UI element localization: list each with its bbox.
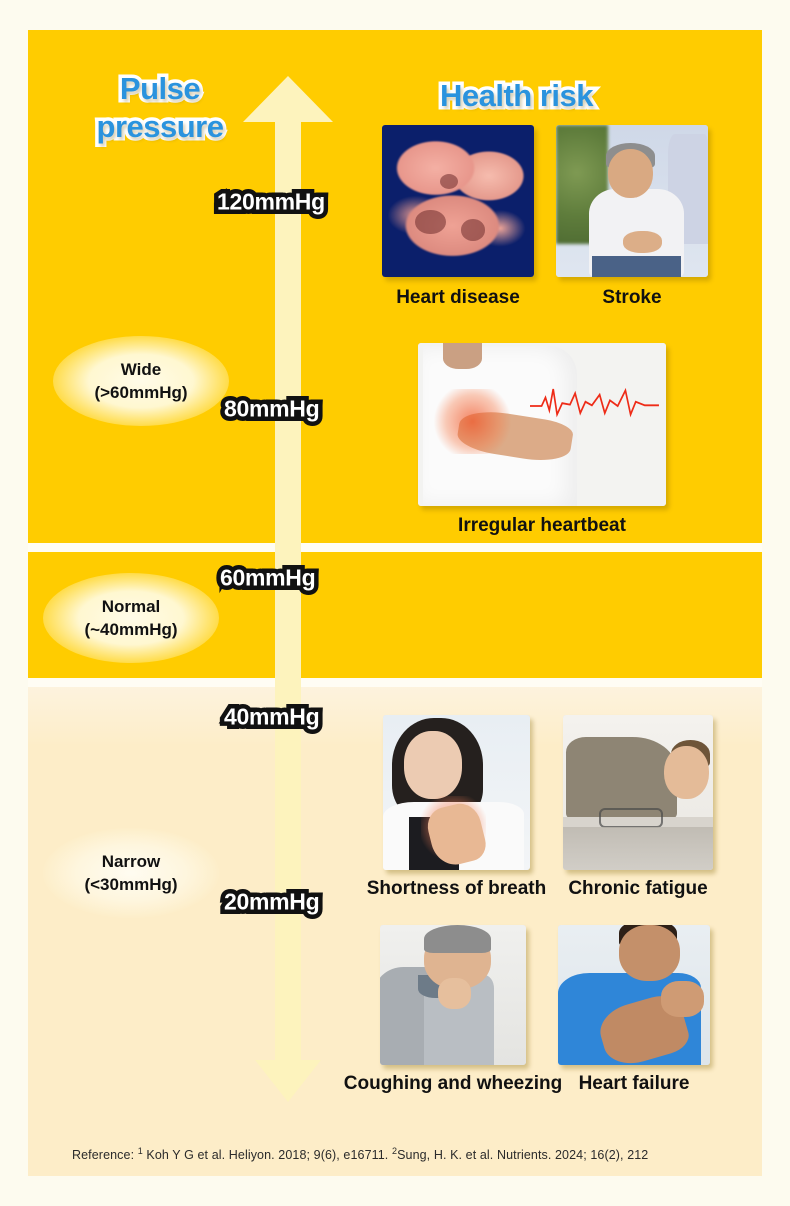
category-badge-normal: Normal (~40mmHg): [43, 573, 219, 663]
reference-note: Reference: 1 Koh Y G et al. Heliyon. 201…: [72, 1146, 732, 1162]
category-range-wide: (>60mmHg): [94, 381, 187, 404]
category-badge-narrow: Narrow (<30mmHg): [43, 828, 219, 918]
category-range-normal: (~40mmHg): [84, 618, 177, 641]
shortness-of-breath-photo: [383, 715, 530, 870]
risk-item-stroke: Stroke: [556, 125, 708, 277]
reference-citation-1: Koh Y G et al. Heliyon. 2018; 9(6), e167…: [146, 1148, 388, 1162]
risk-caption-chronic-fatigue: Chronic fatigue: [568, 878, 707, 900]
category-title-wide: Wide: [121, 358, 161, 381]
heart-anatomy-photo: [382, 125, 534, 277]
tick-label-80mmhg: 80mmHg: [224, 396, 319, 423]
irregular-heartbeat-photo: [418, 343, 666, 506]
pulse-pressure-title: Pulse pressure: [80, 70, 240, 146]
health-risk-title: Health risk: [440, 78, 593, 114]
tick-label-60mmhg: 60mmHg: [220, 565, 315, 592]
arrow-down-head-icon: [255, 1060, 321, 1102]
risk-item-heart-failure: Heart failure: [558, 925, 710, 1065]
divider-40mmhg: [28, 678, 762, 687]
risk-item-heart-disease: Heart disease: [382, 125, 534, 277]
pulse-pressure-infographic: Pulse pressure Health risk 120mmHg 80mmH…: [28, 30, 762, 1176]
risk-item-shortness-of-breath: Shortness of breath: [383, 715, 530, 870]
category-title-narrow: Narrow: [102, 850, 161, 873]
risk-caption-heart-disease: Heart disease: [396, 287, 520, 309]
risk-caption-stroke: Stroke: [602, 287, 661, 309]
category-range-narrow: (<30mmHg): [84, 873, 177, 896]
risk-item-chronic-fatigue: Chronic fatigue: [563, 715, 713, 870]
risk-item-coughing-and-wheezing: Coughing and wheezing: [380, 925, 526, 1065]
risk-caption-coughing-and-wheezing: Coughing and wheezing: [344, 1073, 562, 1095]
reference-citation-2: Sung, H. K. et al. Nutrients. 2024; 16(2…: [397, 1148, 648, 1162]
category-badge-wide: Wide (>60mmHg): [53, 336, 229, 426]
stroke-patient-photo: [556, 125, 708, 277]
divider-60mmhg: [28, 543, 762, 552]
category-title-normal: Normal: [102, 595, 161, 618]
reference-marker-1: 1: [138, 1146, 143, 1156]
risk-caption-shortness-of-breath: Shortness of breath: [367, 878, 546, 900]
tick-label-120mmhg: 120mmHg: [217, 189, 325, 216]
heart-failure-photo: [558, 925, 710, 1065]
risk-caption-irregular-heartbeat: Irregular heartbeat: [458, 515, 626, 537]
reference-prefix: Reference:: [72, 1148, 134, 1162]
tick-label-20mmhg: 20mmHg: [224, 889, 319, 916]
ecg-waveform-icon: [530, 382, 659, 424]
coughing-photo: [380, 925, 526, 1065]
tick-label-40mmhg: 40mmHg: [224, 704, 319, 731]
risk-item-irregular-heartbeat: Irregular heartbeat: [418, 343, 666, 506]
risk-caption-heart-failure: Heart failure: [579, 1073, 690, 1095]
chronic-fatigue-photo: [563, 715, 713, 870]
